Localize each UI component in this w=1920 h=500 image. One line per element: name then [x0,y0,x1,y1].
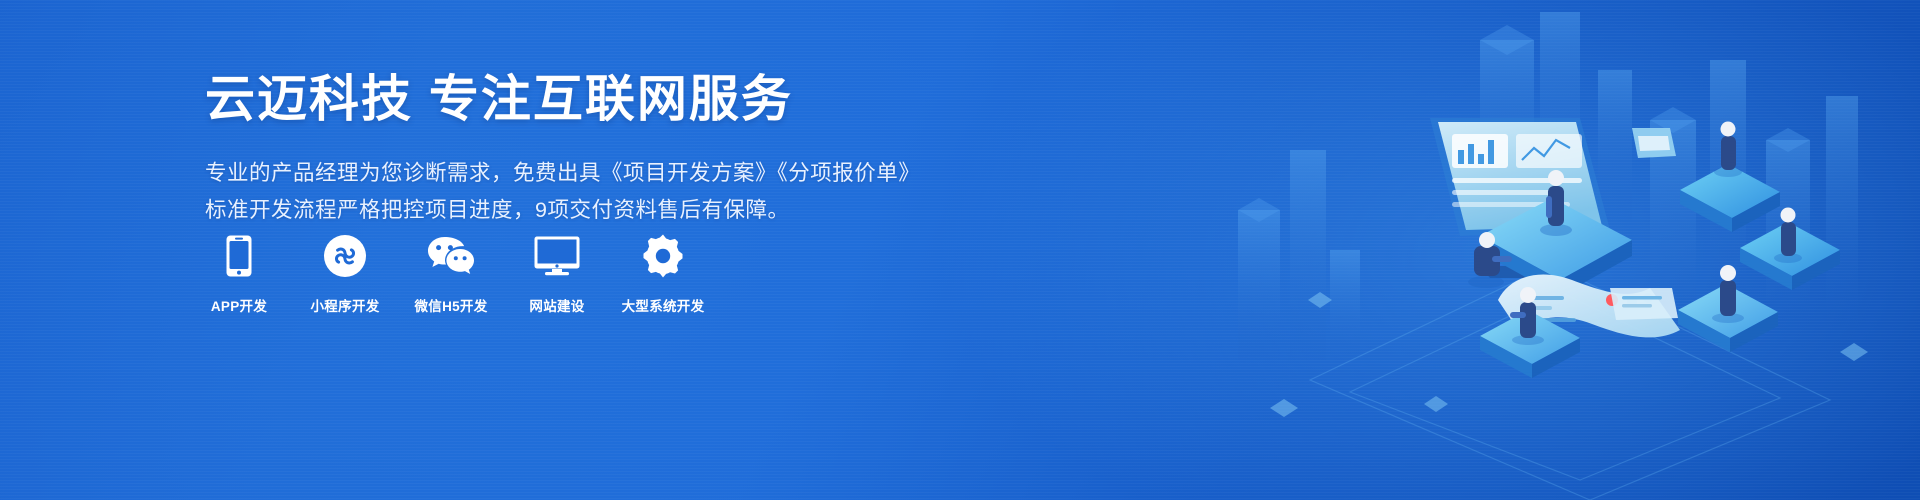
subtitle-line-2: 标准开发流程严格把控项目进度，9项交付资料售后有保障。 [205,192,985,230]
service-label: APP开发 [211,295,267,315]
floating-diamonds [1270,292,1868,417]
person-figure-seated [1468,232,1512,288]
highlight-dot [1606,294,1618,306]
banner-content: 云迈科技 专注互联网服务 专业的产品经理为您诊断需求，免费出具《项目开发方案》《… [205,68,985,230]
wechat-icon [426,233,476,279]
service-label: 微信H5开发 [414,295,487,315]
ground-grid [1310,265,1830,500]
monitor-icon [534,233,580,279]
service-item-mini-program[interactable]: 小程序开发 [309,233,381,315]
service-list: APP开发 小程序开发 [203,233,699,315]
mini-program-icon [324,233,366,279]
data-ribbon [1498,274,1680,337]
background-city-bars [1238,12,1858,360]
floating-panels [1610,128,1678,320]
service-label: 大型系统开发 [622,295,705,315]
person-figure-front-right [1712,265,1744,323]
central-platform [1480,198,1632,296]
service-item-app[interactable]: APP开发 [203,233,275,315]
service-item-wechat-h5[interactable]: 微信H5开发 [415,233,487,315]
person-figure-front-left [1510,287,1544,345]
person-figure-right-upper [1714,122,1742,178]
service-label: 网站建设 [529,295,584,315]
service-item-website[interactable]: 网站建设 [521,233,593,315]
banner-subtitle: 专业的产品经理为您诊断需求，免费出具《项目开发方案》《分项报价单》 标准开发流程… [205,155,985,230]
isometric-illustration [1180,0,1920,500]
page-title: 云迈科技 专注互联网服务 [205,68,985,131]
dashboard-screen [1430,118,1610,278]
person-figure-center [1540,170,1572,236]
gear-icon [641,233,685,279]
person-figure-right-lower [1774,208,1802,264]
service-label: 小程序开发 [311,295,380,315]
subtitle-line-1: 专业的产品经理为您诊断需求，免费出具《项目开发方案》《分项报价单》 [205,155,985,193]
service-item-large-system[interactable]: 大型系统开发 [627,233,699,315]
promo-banner: 云迈科技 专注互联网服务 专业的产品经理为您诊断需求，免费出具《项目开发方案》《… [0,0,1920,500]
right-platforms [1480,164,1840,378]
mobile-phone-icon [226,233,252,279]
